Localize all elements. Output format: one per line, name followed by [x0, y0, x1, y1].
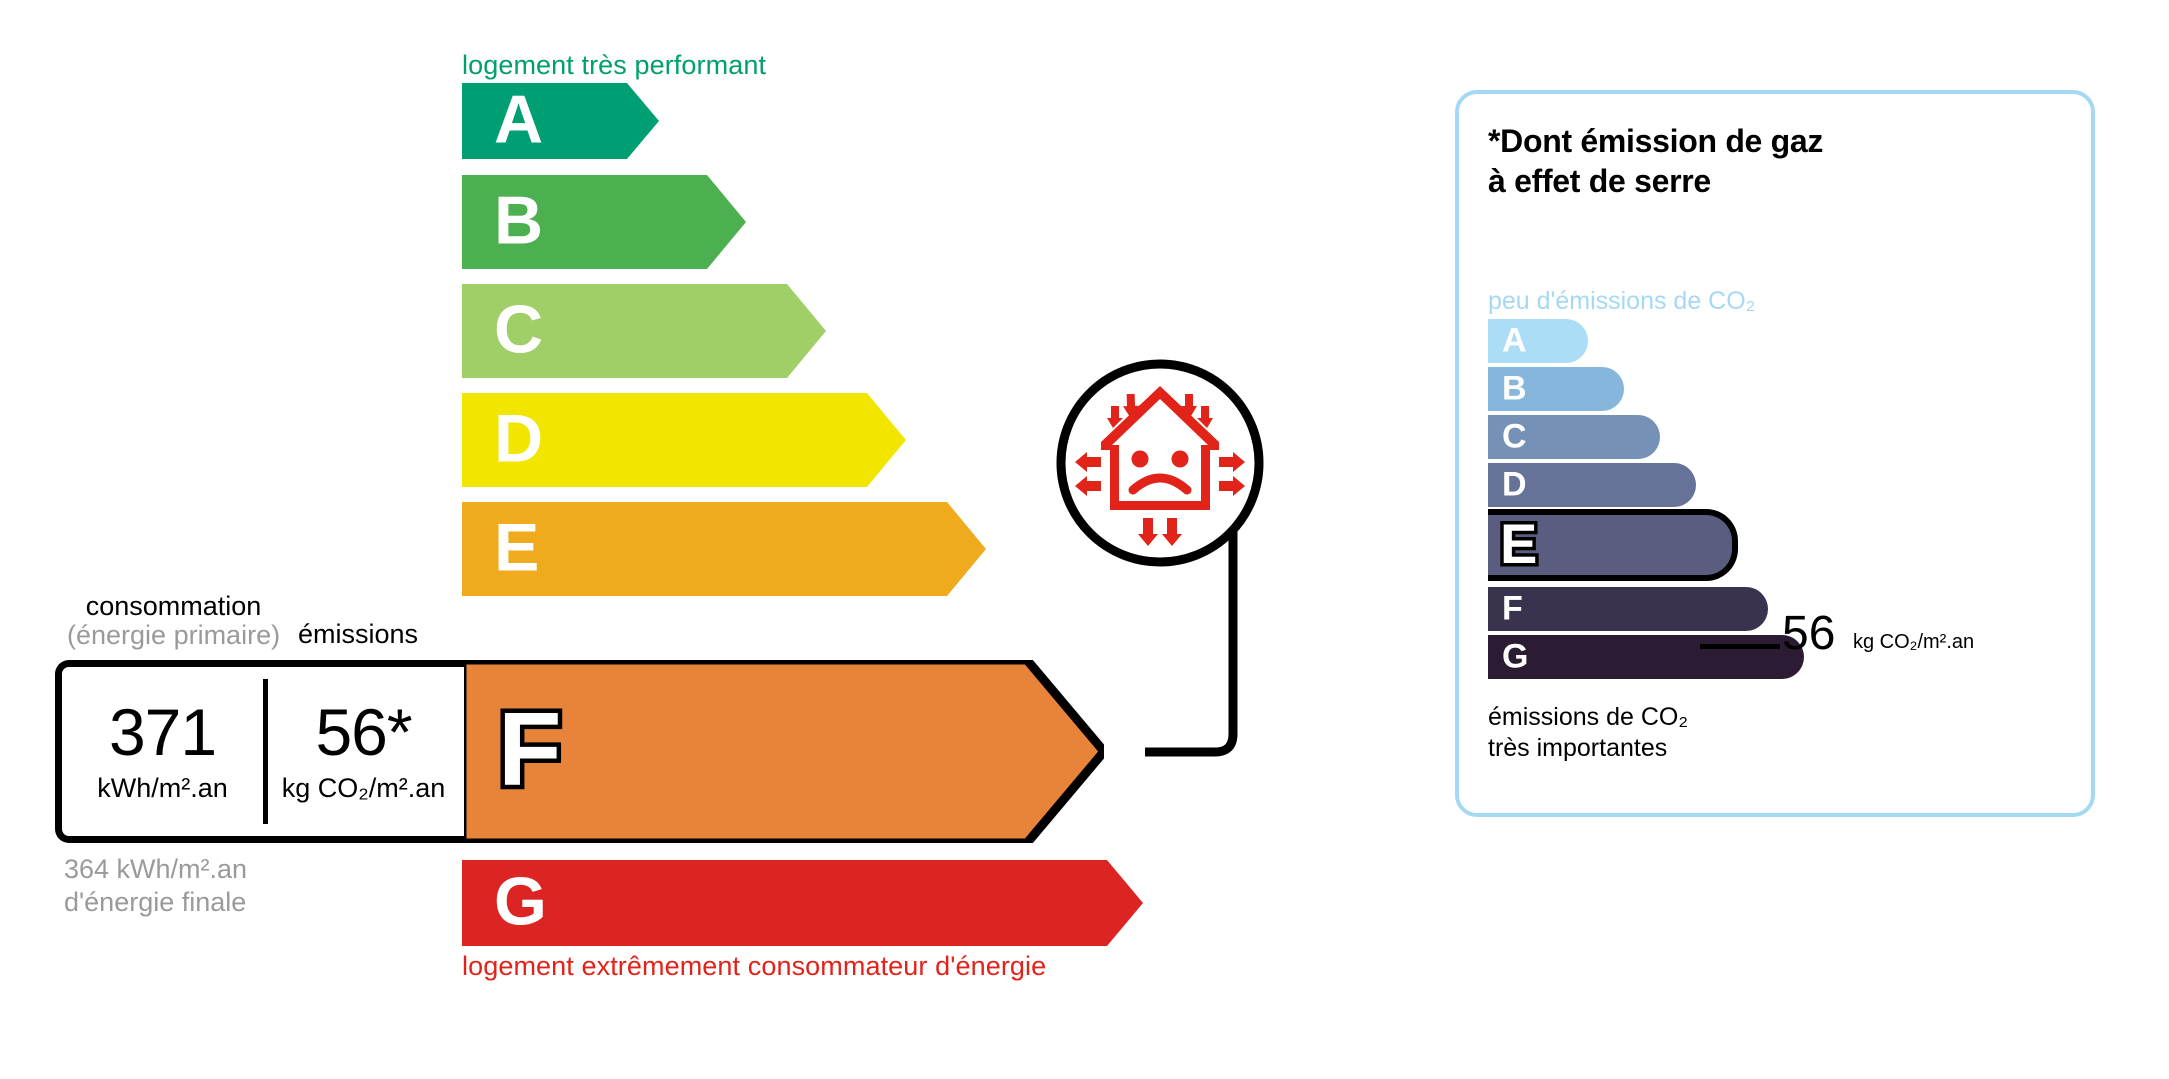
- energy-band-b: B: [462, 175, 746, 269]
- co2-bar-letter: F: [1502, 591, 1523, 625]
- final-energy-note: 364 kWh/m².an d'énergie finale: [64, 853, 247, 919]
- co2-bar-letter: B: [1502, 371, 1527, 405]
- energy-band-c: C: [462, 284, 826, 378]
- co2-bar-letter: C: [1502, 419, 1527, 453]
- energy-band-letter: C: [494, 296, 543, 364]
- co2-callout-line: [1700, 644, 1780, 649]
- energy-band-f: F: [462, 660, 1104, 843]
- co2-value: 56*: [315, 699, 411, 765]
- co2-bar-letter: D: [1502, 467, 1527, 501]
- energy-band-letter: B: [494, 187, 543, 255]
- sad-house-heat-loss-icon: [1055, 358, 1265, 568]
- energy-band-letter: F: [498, 697, 562, 801]
- primary-energy-unit: kWh/m².an: [97, 774, 228, 804]
- co2-bar-f: F: [1488, 587, 1768, 631]
- co2-emissions-panel: *Dont émission de gaz à effet de serre p…: [1455, 90, 2095, 817]
- co2-top-caption: peu d'émissions de CO₂: [1488, 287, 1755, 316]
- energy-band-shape: [462, 502, 986, 596]
- primary-energy-cell: 371 kWh/m².an: [62, 667, 263, 836]
- dpe-label: logement très performant ABCDEFG logemen…: [0, 0, 2169, 1079]
- energy-band-letter: E: [494, 514, 539, 582]
- consommation-label-sub: (énergie primaire): [67, 621, 280, 650]
- energy-band-shape: [462, 83, 659, 159]
- energy-band-e: E: [462, 502, 986, 596]
- co2-callout-unit: kg CO₂/m².an: [1853, 632, 1974, 652]
- energy-band-letter: G: [494, 868, 547, 936]
- co2-value-cell: 56* kg CO₂/m².an: [263, 667, 464, 836]
- co2-bar-b: B: [1488, 367, 1624, 411]
- energy-band-letter: D: [494, 405, 543, 473]
- energy-band-g: G: [462, 860, 1143, 946]
- co2-bar-letter: E: [1500, 516, 1537, 572]
- co2-bar-e: E: [1488, 509, 1738, 581]
- co2-unit: kg CO₂/m².an: [282, 774, 446, 804]
- energy-band-d: D: [462, 393, 906, 487]
- energy-bottom-caption: logement extrêmement consommateur d'éner…: [462, 951, 1046, 982]
- emissions-label: émissions: [298, 620, 418, 649]
- consommation-label-main: consommation: [86, 591, 262, 621]
- value-box: 371 kWh/m².an 56* kg CO₂/m².an: [55, 660, 464, 843]
- primary-energy-value: 371: [109, 699, 216, 765]
- co2-bar-letter: G: [1502, 639, 1528, 673]
- co2-bottom-caption: émissions de CO₂ très importantes: [1488, 702, 1688, 763]
- co2-panel-title: *Dont émission de gaz à effet de serre: [1488, 122, 1823, 201]
- co2-bar-a: A: [1488, 319, 1588, 363]
- co2-bar-letter: A: [1502, 323, 1527, 357]
- consommation-label: consommation (énergie primaire): [67, 592, 280, 650]
- energy-top-caption: logement très performant: [462, 50, 766, 81]
- co2-callout-value: 56: [1782, 610, 1835, 658]
- energy-performance-chart: logement très performant ABCDEFG logemen…: [0, 0, 1400, 1079]
- energy-band-letter: A: [494, 86, 543, 154]
- co2-bar-c: C: [1488, 415, 1660, 459]
- co2-bar-g: G: [1488, 635, 1804, 679]
- energy-band-shape: [462, 860, 1143, 946]
- co2-bar-d: D: [1488, 463, 1696, 507]
- energy-band-a: A: [462, 83, 659, 159]
